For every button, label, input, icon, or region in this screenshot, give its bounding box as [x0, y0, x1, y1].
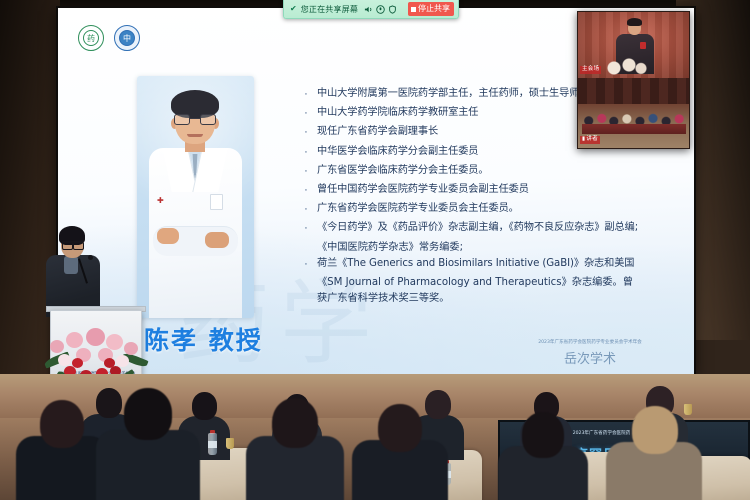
- portrait-hand-right: [205, 232, 229, 248]
- stop-sharing-label: 停止共享: [418, 5, 450, 13]
- hospital-emblem-icon: ✚: [157, 196, 164, 205]
- foreground-audience-member: [96, 388, 200, 500]
- slide-corner-watermark: 2023年广东省药学会医院药学专业委员会学术年会 岳次学术: [500, 339, 680, 367]
- list-item-continuation: 获广东省科学技术奖三等奖。: [317, 291, 690, 307]
- speaker-scarf: [64, 256, 78, 274]
- video-stage-wall: [578, 78, 689, 104]
- video-label-presenter: ▮ 讲者: [580, 136, 600, 144]
- presenter-video-feed[interactable]: 主会场 ▮ 讲者: [577, 11, 690, 149]
- list-item: · 《今日药学》及《药品评价》杂志副主编，《药物不良反应杂志》副总编;: [302, 220, 690, 236]
- foreground-audience-member: [498, 412, 588, 500]
- flag-icon: ▮: [582, 137, 585, 143]
- bullet-dot: ·: [302, 201, 310, 217]
- shield-icon[interactable]: [388, 5, 397, 14]
- portrait-mouth: [187, 134, 203, 137]
- stop-sharing-button[interactable]: 停止共享: [408, 2, 454, 16]
- video-flowers: [596, 56, 656, 76]
- glasses-icon: [173, 114, 217, 126]
- foreground-audience-member: [606, 406, 702, 500]
- glasses-icon: [62, 241, 84, 247]
- foreground-audience-member: [16, 400, 108, 500]
- microphone-head: [88, 255, 93, 260]
- video-speaker-hair: [627, 18, 642, 26]
- portrait-id-badge: [210, 194, 223, 210]
- check-icon: ✔: [288, 5, 297, 13]
- bullet-dot: ·: [302, 163, 310, 179]
- toolbar-icon-group[interactable]: [364, 5, 397, 14]
- university-logo: 中: [114, 25, 140, 51]
- foreground-audience-member: [246, 398, 344, 500]
- list-item-continuation: 《SM Journal of Pharmacology and Therapeu…: [317, 275, 690, 291]
- list-item: · 荷兰《The Generics and Biosimilars Initia…: [302, 256, 690, 272]
- microphone-icon[interactable]: [376, 5, 385, 14]
- list-item: · 广东省药学会医院药学专业委员会主任委员。: [302, 201, 690, 217]
- foreground-audience-member: [352, 404, 448, 500]
- bullet-dot: ·: [302, 256, 310, 272]
- list-item-continuation: 《中国医院药学杂志》常务编委;: [317, 240, 690, 256]
- video-label-main-hall: 主会场: [580, 66, 601, 74]
- conference-room-scene: 药学 药 中: [0, 0, 750, 500]
- beverage-cup: [226, 438, 234, 449]
- pharmacy-association-logo: 药: [78, 25, 104, 51]
- video-speaker-badge: [640, 42, 646, 49]
- bullet-dot: ·: [302, 182, 310, 198]
- bullet-dot: ·: [302, 86, 310, 102]
- bullet-dot: ·: [302, 220, 310, 236]
- portrait-hand-left: [157, 228, 179, 244]
- stop-square-icon: [411, 7, 416, 12]
- speaker-name-label: 陈孝 教授: [144, 321, 263, 357]
- share-status-text: 您正在共享屏幕: [301, 4, 358, 15]
- speaker-icon[interactable]: [364, 5, 373, 14]
- bullet-dot: ·: [302, 144, 310, 160]
- list-item: · 广东省医学会临床药学分会主任委员。: [302, 163, 690, 179]
- video-panel-main-hall: 主会场: [578, 12, 689, 78]
- podium-with-speaker: 2023年广东省药学会医院药学专业委员会学术年会 点亮罕见 "药"有所依，药有所…: [36, 222, 158, 397]
- bullet-dot: ·: [302, 124, 310, 140]
- bullet-dot: ·: [302, 105, 310, 121]
- video-head-table: [582, 124, 686, 134]
- screen-share-toolbar[interactable]: ✔ 您正在共享屏幕 停止共享: [283, 0, 459, 19]
- list-item: · 曾任中国药学会医院药学专业委员会副主任委员: [302, 182, 690, 198]
- slide-logo-group: 药 中: [78, 25, 140, 51]
